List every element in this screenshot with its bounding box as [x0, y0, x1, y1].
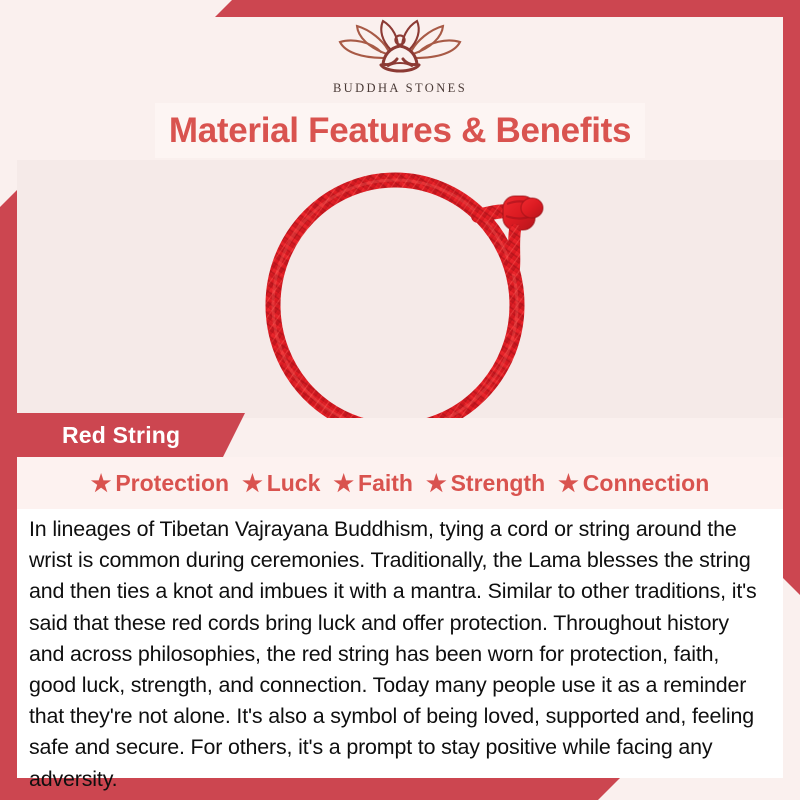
star-icon: ★ — [558, 472, 579, 495]
red-string-bracelet-image — [235, 160, 565, 418]
benefits-row: ★ Protection ★ Luck ★ Faith ★ Strength ★… — [17, 457, 783, 509]
benefit-label: Luck — [267, 470, 321, 497]
star-icon: ★ — [91, 472, 112, 495]
benefit-strength: ★ Strength — [426, 470, 545, 497]
red-string-ribbon: Red String — [0, 413, 245, 457]
brand-logo: BUDDHA STONES — [0, 18, 800, 102]
infographic-page: BUDDHA STONES Material Features & Benefi… — [0, 0, 800, 800]
benefit-luck: ★ Luck — [242, 470, 320, 497]
brand-name: BUDDHA STONES — [333, 81, 467, 96]
description-block: In lineages of Tibetan Vajrayana Buddhis… — [17, 509, 783, 778]
frame-bar-top — [215, 0, 800, 17]
benefit-connection: ★ Connection — [558, 470, 709, 497]
ribbon-label: Red String — [62, 422, 180, 449]
frame-bar-right — [783, 17, 800, 595]
product-photo-area — [17, 160, 783, 418]
frame-bar-left — [0, 190, 17, 800]
star-icon: ★ — [426, 472, 447, 495]
star-icon: ★ — [333, 472, 354, 495]
page-title: Material Features & Benefits — [169, 111, 631, 151]
benefit-faith: ★ Faith — [333, 470, 413, 497]
benefit-label: Faith — [358, 470, 413, 497]
title-banner: Material Features & Benefits — [155, 103, 645, 158]
lotus-meditation-icon — [325, 18, 475, 80]
benefit-label: Connection — [583, 470, 710, 497]
benefit-label: Protection — [115, 470, 229, 497]
description-paragraph: In lineages of Tibetan Vajrayana Buddhis… — [29, 514, 765, 795]
benefit-protection: ★ Protection — [91, 470, 229, 497]
star-icon: ★ — [242, 472, 263, 495]
benefit-label: Strength — [451, 470, 546, 497]
